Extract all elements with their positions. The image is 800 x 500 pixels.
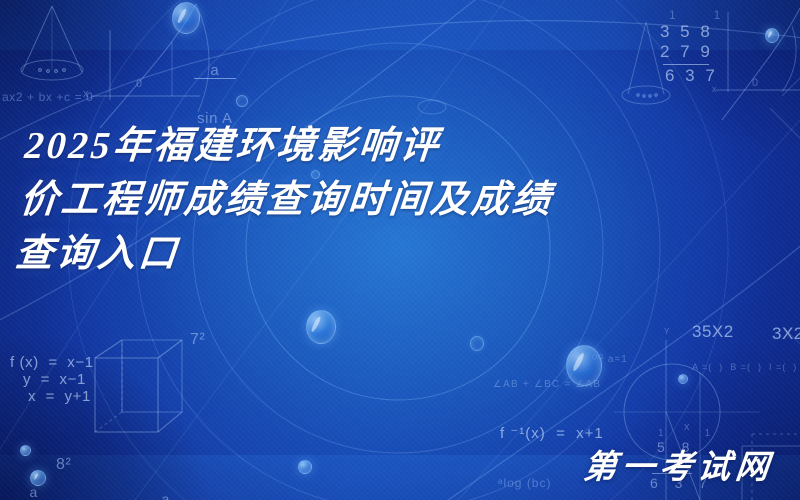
formula-log-bc: ᵃlog (bc) xyxy=(498,476,551,490)
exponent-eight-squared: 8² xyxy=(56,456,71,474)
equation-y: y = x−1 xyxy=(23,371,94,388)
cone-base-ticks-right xyxy=(637,94,657,97)
axis-label-y-bottom-right: Y xyxy=(664,327,670,336)
equation-fx: f (x) = x−1 xyxy=(10,354,94,371)
bubble-glint xyxy=(768,31,773,38)
axis-label-x-top-right: x xyxy=(712,84,717,94)
bubble-right-large xyxy=(566,345,602,386)
bubble-right-dot xyxy=(678,374,688,384)
bubble-glint xyxy=(311,316,323,333)
carry-digits-bottom: 1 1 xyxy=(658,428,716,439)
addend-one: 3 5 8 xyxy=(660,22,727,42)
cube-edge-tl xyxy=(95,340,122,358)
bubble-glint xyxy=(176,8,187,24)
angle-label-top-right: 0 xyxy=(752,77,759,89)
curve-diagonal-top-right xyxy=(722,8,800,120)
addition-problem-top-right: 1 1 3 5 8 2 7 9 6 3 7 xyxy=(660,8,727,86)
bubble-glint xyxy=(33,473,38,480)
site-watermark: 第一考试网 xyxy=(581,440,776,488)
bubble-upper-small xyxy=(236,95,248,107)
bubble-mid-small xyxy=(470,336,484,351)
cone-shape-top-right xyxy=(628,22,664,94)
axis-label-x-top-left: x xyxy=(83,88,89,100)
addend-two: 2 7 9 xyxy=(660,42,727,62)
page-title-line-3: 查询入口 xyxy=(13,228,778,282)
carry-digits-top: 1 1 xyxy=(669,8,727,22)
bubble-bottom-arc xyxy=(298,460,312,474)
bubble-left-edge-b xyxy=(30,470,46,486)
cube-back-face xyxy=(122,340,182,412)
equation-x: x = y+1 xyxy=(28,388,94,405)
formula-quadratic: ax2 + bx +c = 0 xyxy=(2,90,93,104)
formula-law-of-sines-bottom-middle: a sin A xyxy=(128,447,185,500)
label-matrix-35x2: 35X2 xyxy=(692,322,734,342)
cube-front-face xyxy=(95,358,158,432)
cone-base-top-right xyxy=(622,86,670,104)
bubble-top-right xyxy=(765,28,779,43)
page-title-line-2: 价工程师成绩查询时间及成绩 xyxy=(18,174,783,228)
page-title: 2025年福建环境影响评 价工程师成绩查询时间及成绩 查询入口 xyxy=(13,120,787,282)
matrix-definitions: A =( ) B =( ) I =( ) xyxy=(692,362,797,372)
bubble-glint xyxy=(571,352,585,372)
exponent-seven-squared: 7² xyxy=(190,331,205,349)
bubble-top-left xyxy=(172,2,200,34)
addition-sum: 6 3 7 xyxy=(665,66,727,86)
banner-image: a sin A ax2 + bx +c = 0 x 0 1 1 3 5 8 2 … xyxy=(0,0,800,500)
addition-rule-line xyxy=(663,64,709,65)
faint-ellipse-mid xyxy=(418,100,446,114)
cube-edge-tr xyxy=(158,340,182,358)
bubble-left-edge-a xyxy=(20,445,31,456)
angle-label-top-left: 0 xyxy=(136,78,143,90)
bubble-mid-left xyxy=(306,310,336,344)
label-matrix-3x2: 3X2 xyxy=(772,324,800,344)
page-title-line-1: 2025年福建环境影响评 xyxy=(22,120,787,174)
cube-edge-br xyxy=(158,412,182,432)
function-equations-block: f (x) = x−1 y = x−1 x = y+1 xyxy=(10,354,94,405)
